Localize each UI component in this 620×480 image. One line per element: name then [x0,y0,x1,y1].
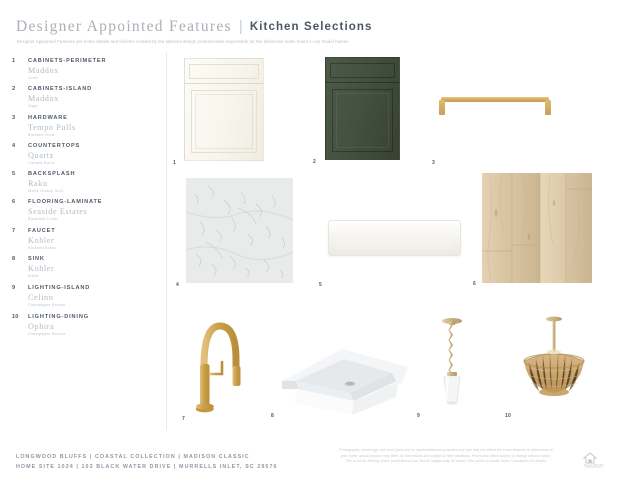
item-number: 9 [12,285,15,291]
item-number: 6 [12,199,15,205]
item-spec: Brushed Brass [28,246,158,251]
house-icon [583,452,597,464]
list-item: 1 CABINETS-PERIMETER Maddox Linen [8,58,158,81]
vertical-divider [166,52,167,430]
list-item: 10 LIGHTING-DINING Ophira Champagne Bron… [8,314,158,337]
island-pendant-light-image [427,313,477,418]
item-spec: Linen [28,76,158,81]
product-cell-4[interactable]: 4 [186,178,293,283]
pull-bar [441,97,549,102]
item-number: 7 [12,228,15,234]
item-brand: Quartz [28,151,158,161]
list-item: 3 HARDWARE Tempo Pulls Brushed Gold [8,115,158,138]
item-brand: Seaside Estates [28,207,158,217]
door-seam-detail [326,82,399,83]
item-category: FAUCET [28,228,158,235]
item-spec: White [28,274,158,279]
product-cell-10[interactable]: 10 [515,313,593,423]
list-item: 2 CABINETS-ISLAND Maddox Sage [8,86,158,109]
product-cell-2[interactable]: 2 [325,57,400,160]
cabinet-door-perimeter-linen-image [184,58,264,161]
footer-disclaimer: Photographs, renderings, and floor plans… [312,448,580,465]
page-subtitle: Designer Appointed Features are home det… [17,39,350,44]
door-panel-detail [332,89,393,152]
pull-post-right [545,100,551,115]
kitchen-faucet-brushed-brass-image [190,310,250,418]
product-label-3: 3 [432,160,435,166]
product-cell-5[interactable]: 5 [328,220,461,260]
door-seam-detail [185,83,263,84]
item-number: 3 [12,115,15,121]
item-spec: Sage [28,104,158,109]
item-brand: Celino [28,293,158,303]
item-category: HARDWARE [28,115,158,122]
product-label-7: 7 [182,416,185,422]
item-category: BACKSPLASH [28,171,158,178]
product-cell-3[interactable]: 3 [435,95,555,121]
product-label-2: 2 [313,159,316,165]
page-footer: LONGWOOD BLUFFS | COASTAL COLLECTION | M… [0,440,620,480]
list-item: 8 SINK Kohler White [8,256,158,279]
page-header: Designer Appointed Features | Kitchen Se… [0,0,620,52]
item-spec: Brushed Gold [28,133,158,138]
item-category: CABINETS-PERIMETER [28,58,158,65]
item-number: 4 [12,143,15,149]
pull-post-left [439,100,445,115]
item-spec: Champagne Bronze [28,332,158,337]
item-number: 5 [12,171,15,177]
door-panel-detail [191,90,257,153]
product-cell-8[interactable]: 8 [280,337,410,421]
product-cell-9[interactable]: 9 [427,313,477,421]
item-spec: Carrara Breve [28,161,158,166]
product-cell-1[interactable]: 1 [184,58,264,161]
product-cell-6[interactable]: 6 [482,173,592,283]
product-cell-7[interactable]: 7 [190,310,250,420]
item-brand: Ophira [28,322,158,332]
list-item: 7 FAUCET Kohler Brushed Brass [8,228,158,251]
item-number: 8 [12,256,15,262]
designer-features-sheet: Designer Appointed Features | Kitchen Se… [0,0,620,480]
eho-caption: EQUAL HOUSING OPPORTUNITY [583,465,605,469]
page-title-primary: Designer Appointed Features [16,18,232,36]
laminate-flooring-swatch-image [482,173,592,283]
door-drawer-detail [330,63,396,78]
product-image-grid: 1 2 3 [170,55,612,430]
page-title: Designer Appointed Features | Kitchen Se… [16,18,373,36]
disclaimer-line-3: This is not an offering where prohibited… [312,459,580,465]
item-category: CABINETS-ISLAND [28,86,158,93]
backsplash-subway-tile-image [328,220,461,256]
equal-housing-opportunity-logo: EQUAL HOUSING OPPORTUNITY [583,452,605,469]
product-label-4: 4 [176,282,179,288]
cabinet-door-island-sage-image [325,57,400,160]
farmhouse-sink-white-image [280,337,410,417]
list-item: 4 COUNTERTOPS Quartz Carrara Breve [8,143,158,166]
footer-address-line: HOME SITE 1024 | 103 BLACK WATER DRIVE |… [16,462,278,472]
product-label-1: 1 [173,160,176,166]
title-divider: | [239,18,243,35]
product-label-5: 5 [319,282,322,288]
item-spec: White Glossy 3x12 [28,189,158,194]
footer-community-line: LONGWOOD BLUFFS | COASTAL COLLECTION | M… [16,452,278,462]
item-category: FLOORING-LAMINATE [28,199,158,206]
page-title-secondary: Kitchen Selections [250,21,373,33]
product-label-8: 8 [271,413,274,419]
item-spec: Bleached Linen [28,217,158,222]
item-brand: Kohler [28,264,158,274]
list-item: 6 FLOORING-LAMINATE Seaside Estates Blea… [8,199,158,222]
item-category: SINK [28,256,158,263]
item-number: 1 [12,58,15,64]
item-brand: Maddox [28,66,158,76]
item-category: COUNTERTOPS [28,143,158,150]
door-drawer-detail [189,64,259,79]
footer-community-info: LONGWOOD BLUFFS | COASTAL COLLECTION | M… [16,452,278,472]
list-item: 5 BACKSPLASH Raku White Glossy 3x12 [8,171,158,194]
item-brand: Tempo Pulls [28,123,158,133]
hardware-bar-pull-brushed-gold-image [435,95,555,117]
product-label-10: 10 [505,413,511,419]
item-category: LIGHTING-DINING [28,314,158,321]
disclaimer-line-1: Photographs, renderings, and floor plans… [312,448,580,454]
item-spec: Champagne Bronze [28,303,158,308]
product-label-9: 9 [417,413,420,419]
selections-list: 1 CABINETS-PERIMETER Maddox Linen 2 CABI… [8,58,158,342]
dining-chandelier-woven-image [515,313,593,418]
quartz-countertop-swatch-image [186,178,293,283]
item-brand: Maddox [28,94,158,104]
item-number: 10 [12,314,19,320]
product-label-6: 6 [473,281,476,287]
item-number: 2 [12,86,15,92]
item-category: LIGHTING-ISLAND [28,285,158,292]
item-brand: Raku [28,179,158,189]
item-brand: Kohler [28,236,158,246]
list-item: 9 LIGHTING-ISLAND Celino Champagne Bronz… [8,285,158,308]
